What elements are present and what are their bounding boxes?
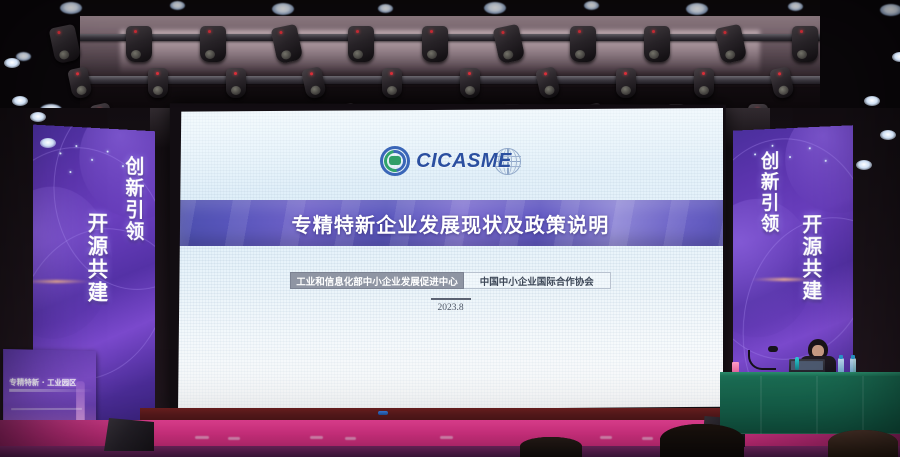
fixture-indicator-led [430,30,433,33]
left-banner-line-1: 创新引领 [120,155,147,243]
stage-light-fixture [422,26,448,62]
organization-primary: 工业和信息化部中小企业发展促进中心 [290,272,464,289]
fixture-indicator-led [134,30,137,33]
light-beam-highlight [272,3,294,15]
stage-monitor-speaker-left [104,418,154,451]
fixture-indicator-led [356,30,359,33]
fixture-indicator-led [652,30,655,33]
side-light-beam [40,138,56,148]
conference-stage-photo: CICASME 专精特新企业发展现状及政策说明 工业和信息化部中小企业发展促进中… [0,0,900,457]
organization-secondary: 中国中小企业国际合作协会 [464,272,611,289]
stage-light-fixture [460,68,480,98]
slide-organizations: 工业和信息化部中小企业发展促进中心 中国中小企业国际合作协会 [178,272,723,289]
handheld-microphone [795,357,799,370]
fixture-indicator-led [76,72,80,76]
slide-title: 专精特新企业发展现状及政策说明 [178,200,723,246]
stage-light-fixture [348,26,374,62]
side-light-beam [864,96,880,106]
cicasme-wordmark: CICASME [416,150,512,173]
fixture-indicator-led [279,31,283,35]
stage-light-fixture [226,68,246,98]
water-bottle-2 [850,358,856,373]
slide-divider [431,298,471,300]
stage-light-fixture [148,68,168,98]
fixture-indicator-led [57,31,61,35]
cicasme-swirl-emblem-icon [380,146,410,176]
stage-light-fixture [200,26,226,62]
audience-head-2 [660,424,744,457]
side-light-beam [30,112,46,122]
fixture-indicator-led [468,72,471,75]
fixture-indicator-led [800,30,803,33]
stage-light-fixture [382,68,402,98]
light-beam-highlight [378,4,393,13]
light-beam-highlight [484,2,506,14]
slide-date: 2023.8 [178,303,723,313]
fixture-indicator-led [702,72,705,75]
slide-logo: CICASME [178,146,723,176]
fixture-indicator-led [390,72,393,75]
fixture-indicator-led [723,31,727,35]
truss-bar-2 [52,76,852,84]
fixture-indicator-led [778,72,782,76]
side-light-beam [4,58,20,68]
light-beam-highlight [60,2,82,14]
fixture-indicator-led [544,72,548,76]
right-rig-shadow [820,0,900,118]
right-banner-line-2: 开源共建 [797,213,826,302]
main-led-screen: CICASME 专精特新企业发展现状及政策说明 工业和信息化部中小企业发展促进中… [178,108,723,411]
left-banner-line-2: 开源共建 [82,212,111,304]
fixture-indicator-led [624,72,627,75]
light-beam-highlight [686,3,708,15]
stage-light-fixture [126,26,152,62]
table-top-edge [720,372,900,376]
stage-light-fixture [570,26,596,62]
ceiling-truss-area [0,0,900,118]
ceiling-top-shadow [0,0,900,16]
stage-light-fixture [694,68,714,98]
fixture-indicator-led [156,72,159,75]
fixture-indicator-led [310,72,314,76]
speaker-table [720,372,900,434]
light-beam-highlight [170,1,185,10]
side-light-beam [856,160,872,170]
poster-title: 专精特新 · 工业园区 [9,377,93,389]
stage-light-fixture [644,26,670,62]
stage-light-fixture [616,68,636,98]
side-light-beam [880,130,896,140]
light-beam-highlight [788,2,803,11]
fixture-indicator-led [501,31,505,35]
small-blue-object [378,411,388,415]
side-light-beam [12,96,28,106]
audience-head-1 [520,437,582,457]
audience-head-3 [828,430,898,457]
fixture-indicator-led [208,30,211,33]
light-beam-highlight [584,1,599,10]
fixture-indicator-led [578,30,581,33]
water-bottle-1 [838,358,844,373]
stage-light-fixture [792,26,818,62]
light-beam-highlight [880,4,900,16]
slide-title-band: 专精特新企业发展现状及政策说明 [178,200,723,246]
fixture-indicator-led [234,72,237,75]
right-banner-line-1: 创新引领 [756,150,782,234]
